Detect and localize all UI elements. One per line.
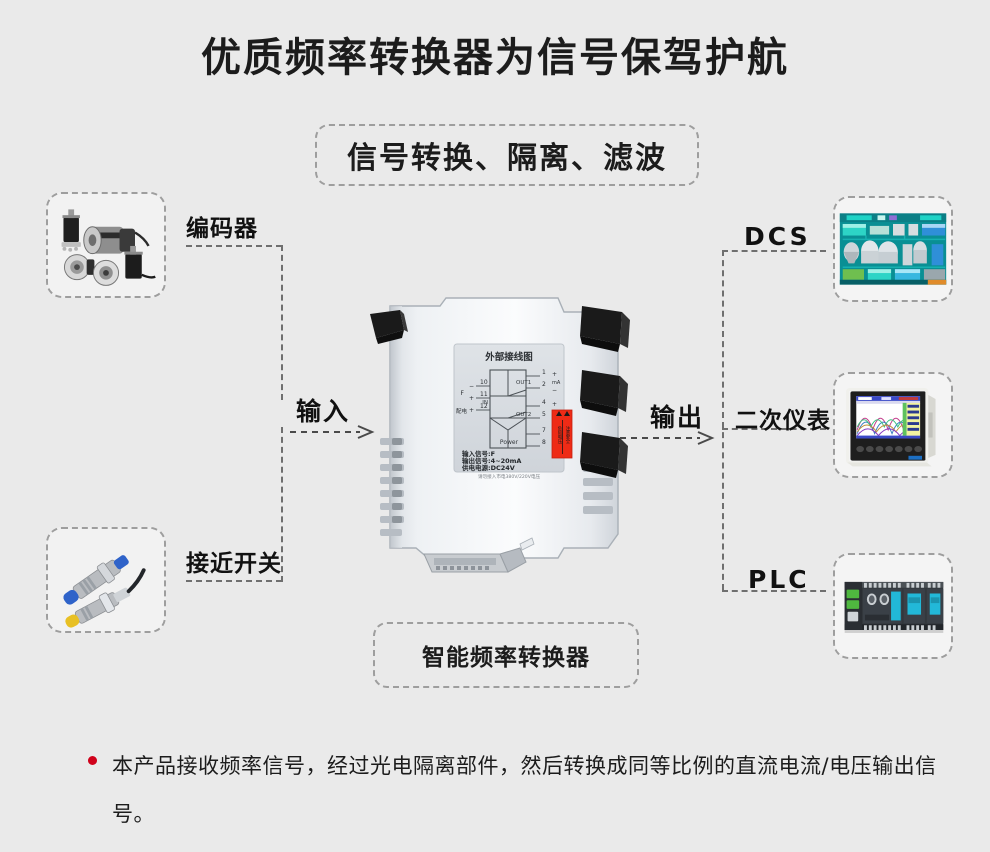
flow-label-input: 输入 [296,392,350,428]
svg-text:F: F [461,390,465,397]
input-thumb-proximity [46,527,166,633]
warning-sticker: 危险电压 注意安全 [552,410,572,458]
svg-text:4: 4 [542,399,546,406]
input-label-proximity: 接近开关 [186,544,282,578]
connector-encoder-vertical [281,245,283,400]
svg-text:供电电源:DC24V: 供电电源:DC24V [461,463,515,472]
subtitle-text: 信号转换、隔离、滤波 [347,133,667,177]
rotary-encoders-photo [48,194,164,296]
paperless-recorder-photo [835,374,951,476]
wiring-diagram-title: 外部接线图 [484,351,533,363]
svg-text:+: + [469,395,474,402]
svg-text:危险电压: 危险电压 [557,425,562,445]
svg-text:OUT2: OUT2 [516,412,531,418]
connector-output-trunk [722,250,724,590]
frequency-converter-device: 外部接线图 IN OUT1 OUT2 Power 10 11 12 [368,286,654,576]
svg-text:配电: 配电 [456,407,468,415]
svg-text:11: 11 [480,391,488,398]
svg-text:2: 2 [542,381,546,388]
svg-text:+: + [552,401,557,408]
svg-text:12: 12 [480,403,488,410]
plc-rack-photo [835,555,951,657]
svg-text:OUT1: OUT1 [516,380,531,386]
connector-proximity-vertical [281,427,283,582]
output-arrow-icon [620,430,716,446]
bullet-dot-icon [88,756,97,765]
output-thumb-dcs [833,196,953,302]
svg-text:请勿接入市电380V/220V电压: 请勿接入市电380V/220V电压 [478,473,541,480]
svg-text:Power: Power [500,439,519,446]
output-thumb-instrument [833,372,953,478]
flow-label-output: 输出 [650,398,704,434]
svg-text:5: 5 [542,411,546,418]
device-caption-badge: 智能频率转换器 [373,622,639,688]
output-terminal-block-1 [580,306,630,352]
svg-text:mA: mA [552,380,561,386]
proximity-switches-photo [48,529,164,631]
output-label-plc: PLC [748,565,810,594]
input-thumb-encoder [46,192,166,298]
svg-text:10: 10 [480,379,488,386]
connector-encoder-underline [186,245,282,247]
output-terminal-block-2 [580,370,628,416]
subtitle-badge: 信号转换、隔离、滤波 [315,124,699,186]
page-title: 优质频率转换器为信号保驾护航 [0,30,990,86]
input-label-encoder: 编码器 [186,209,258,243]
output-thumb-plc [833,553,953,659]
svg-text:8: 8 [542,439,546,446]
device-caption-text: 智能频率转换器 [422,638,590,672]
svg-text:7: 7 [542,427,546,434]
diagram-canvas: 优质频率转换器为信号保驾护航 信号转换、隔离、滤波 [0,0,990,852]
dcs-scada-screen-photo [835,198,951,300]
output-label-dcs: DCS [744,222,811,251]
svg-text:−: − [552,387,557,394]
svg-text:−: − [469,383,474,390]
svg-text:注意安全: 注意安全 [565,425,570,444]
svg-text:1: 1 [542,369,546,376]
footnote-text: 本产品接收频率信号，经过光电隔离部件，然后转换成同等比例的直流电流/电压输出信号… [112,742,948,838]
footnote: 本产品接收频率信号，经过光电隔离部件，然后转换成同等比例的直流电流/电压输出信号… [88,742,948,838]
input-arrow-icon [290,424,376,440]
connector-proximity-underline [186,580,282,582]
svg-text:+: + [469,407,474,414]
device-illustration: 外部接线图 IN OUT1 OUT2 Power 10 11 12 [368,286,654,576]
svg-text:+: + [552,371,557,378]
output-label-instrument: 二次仪表 [735,401,831,435]
